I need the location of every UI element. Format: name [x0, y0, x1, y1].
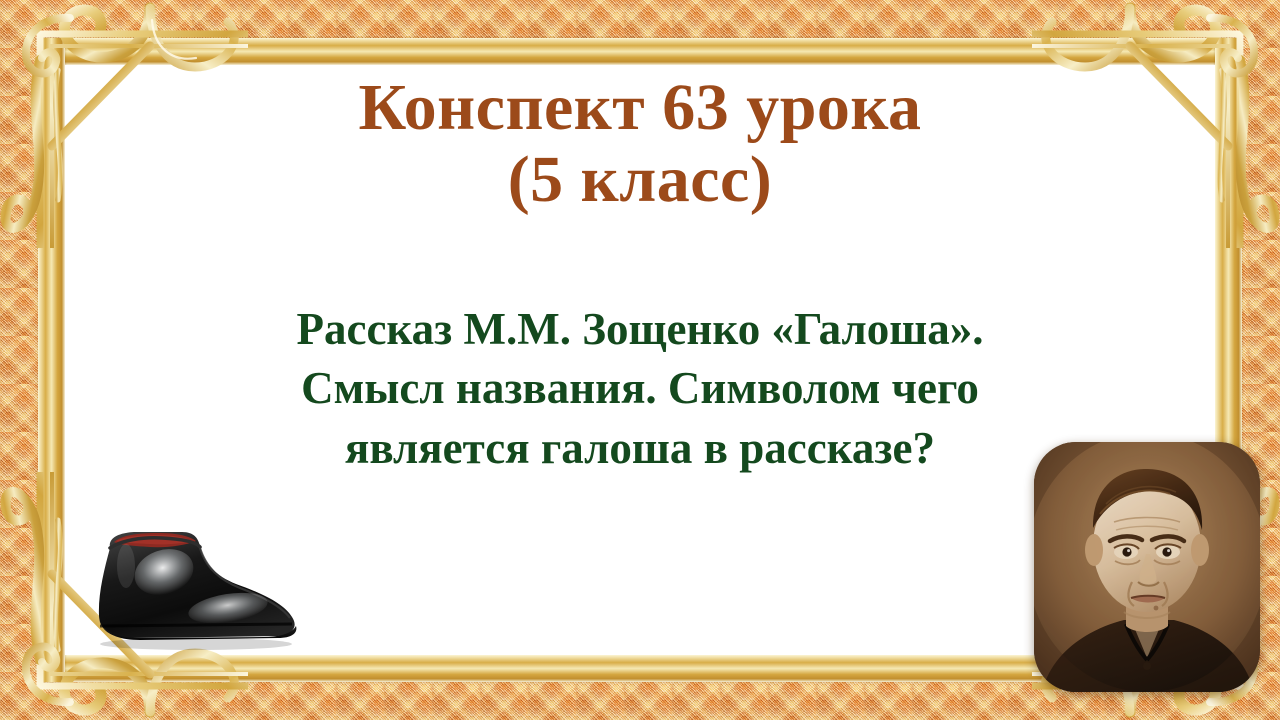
galosh-image [78, 520, 310, 660]
slide-title-line-1: Конспект 63 урока [90, 72, 1190, 144]
slide-subtitle-line-3: является галоша в рассказе? [100, 419, 1180, 478]
slide-title: Конспект 63 урока (5 класс) [90, 72, 1190, 216]
slide-subtitle-line-1: Рассказ М.М. Зощенко «Галоша». [100, 300, 1180, 359]
slide-subtitle-line-2: Смысл названия. Символом чего [100, 359, 1180, 418]
author-portrait [1034, 442, 1260, 692]
gold-bar-left [38, 38, 65, 682]
presentation-slide: Конспект 63 урока (5 класс) Рассказ М.М.… [0, 0, 1280, 720]
slide-subtitle: Рассказ М.М. Зощенко «Галоша». Смысл наз… [100, 300, 1180, 478]
slide-title-line-2: (5 класс) [90, 144, 1190, 216]
gold-bar-top [38, 38, 1242, 65]
